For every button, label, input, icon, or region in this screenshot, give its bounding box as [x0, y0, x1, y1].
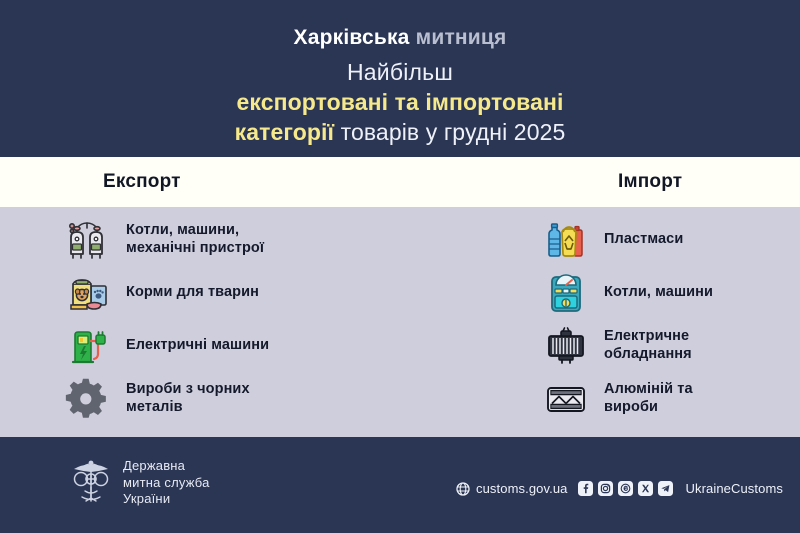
boiler-gauge-icon: [540, 269, 592, 317]
threads-icon[interactable]: [618, 481, 633, 496]
tab-import[interactable]: Імпорт: [618, 157, 682, 207]
list-item: Котли, машини, механічні пристрої: [62, 213, 392, 266]
export-column: Котли, машини, механічні пристрої: [62, 213, 392, 425]
website-link[interactable]: customs.gov.ua: [476, 481, 567, 496]
list-item-label: Котли, машини, механічні пристрої: [126, 222, 264, 256]
org-name: Державна митна служба України: [123, 458, 210, 509]
tab-import-label: Імпорт: [618, 171, 682, 193]
boilers-icon: [62, 216, 114, 264]
ev-charger-icon: [62, 322, 114, 370]
pet-food-icon: [62, 269, 114, 317]
list-item: Електричне обладнання: [540, 319, 790, 372]
tab-band: Експорт Імпорт: [0, 157, 800, 207]
telegram-icon[interactable]: [658, 481, 673, 496]
headline-accent: категорії: [235, 119, 335, 145]
list-item: Алюміній та вироби: [540, 372, 790, 425]
headline-line-3: категорії товарів у грудні 2025: [0, 118, 800, 148]
footer-section: Державна митна служба України customs.go…: [0, 437, 800, 533]
list-item: Пластмаси: [540, 213, 790, 266]
list-item-label: Котли, машини: [604, 284, 713, 301]
headline-line-2: експортовані та імпортовані: [0, 88, 800, 118]
tab-export-label: Експорт: [103, 171, 181, 193]
list-item: Корми для тварин: [62, 266, 392, 319]
social-handle: UkraineCustoms: [685, 481, 782, 496]
x-icon[interactable]: [638, 481, 653, 496]
brand-strong: Харківська: [294, 26, 410, 49]
import-column: Пластмаси Котли, маш: [540, 213, 790, 425]
list-item-label: Алюміній та вироби: [604, 381, 693, 415]
infographic-root: Харківська митниця Найбільш експортовані…: [0, 0, 800, 533]
categories-board: Котли, машини, механічні пристрої: [0, 207, 800, 437]
brand-title: Харківська митниця: [0, 26, 800, 50]
tab-export[interactable]: Експорт: [103, 157, 181, 207]
headline-line-1: Найбільш: [0, 58, 800, 88]
list-item-label: Електричне обладнання: [604, 328, 692, 362]
headline-rest: товарів у грудні 2025: [334, 119, 565, 145]
globe-icon: [456, 482, 470, 496]
page-title: Найбільш експортовані та імпортовані кат…: [0, 58, 800, 148]
list-item-label: Електричні машини: [126, 337, 269, 354]
facebook-icon[interactable]: [578, 481, 593, 496]
social-links: [578, 481, 673, 496]
contact-bar: customs.gov.ua: [456, 481, 783, 496]
list-item-label: Пластмаси: [604, 231, 683, 248]
electrical-equipment-icon: [540, 322, 592, 370]
header-section: Харківська митниця Найбільш експортовані…: [0, 0, 800, 157]
plastics-icon: [540, 216, 592, 264]
gear-icon: [62, 375, 114, 423]
aluminium-profile-icon: [540, 375, 592, 423]
list-item: Котли, машини: [540, 266, 790, 319]
instagram-icon[interactable]: [598, 481, 613, 496]
org-logo-block: Державна митна служба України: [70, 457, 210, 509]
list-item: Електричні машини: [62, 319, 392, 372]
list-item-label: Вироби з чорних металів: [126, 381, 250, 415]
customs-emblem-icon: [70, 457, 112, 509]
list-item-label: Корми для тварин: [126, 284, 259, 301]
brand-soft: митниця: [416, 26, 507, 49]
list-item: Вироби з чорних металів: [62, 372, 392, 425]
